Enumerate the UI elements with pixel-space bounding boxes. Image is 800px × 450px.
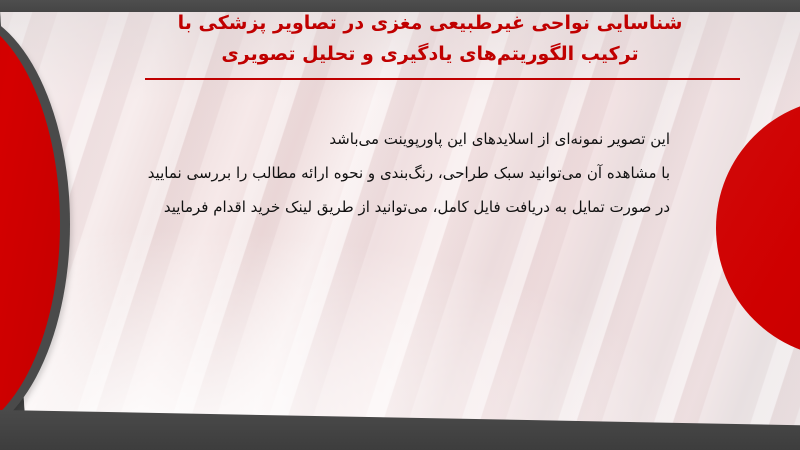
body-line-2: با مشاهده آن می‌توانید سبک طراحی، رنگ‌بن… <box>150 156 670 190</box>
slide-body-text: این تصویر نمونه‌ای از اسلایدهای این پاور… <box>150 122 670 224</box>
title-line-1: شناسایی نواحی غیرطبیعی مغزی در تصاویر پز… <box>120 8 740 39</box>
body-line-3: در صورت تمایل به دریافت فایل کامل، می‌تو… <box>150 190 670 224</box>
top-dark-band <box>0 0 800 12</box>
title-line-2: ترکیب الگوریتم‌های یادگیری و تحلیل تصویر… <box>120 39 740 70</box>
body-line-1: این تصویر نمونه‌ای از اسلایدهای این پاور… <box>150 122 670 156</box>
slide-canvas: شناسایی نواحی غیرطبیعی مغزی در تصاویر پز… <box>0 0 800 450</box>
title-underline-rule <box>145 78 740 80</box>
slide-title: شناسایی نواحی غیرطبیعی مغزی در تصاویر پز… <box>120 8 740 70</box>
